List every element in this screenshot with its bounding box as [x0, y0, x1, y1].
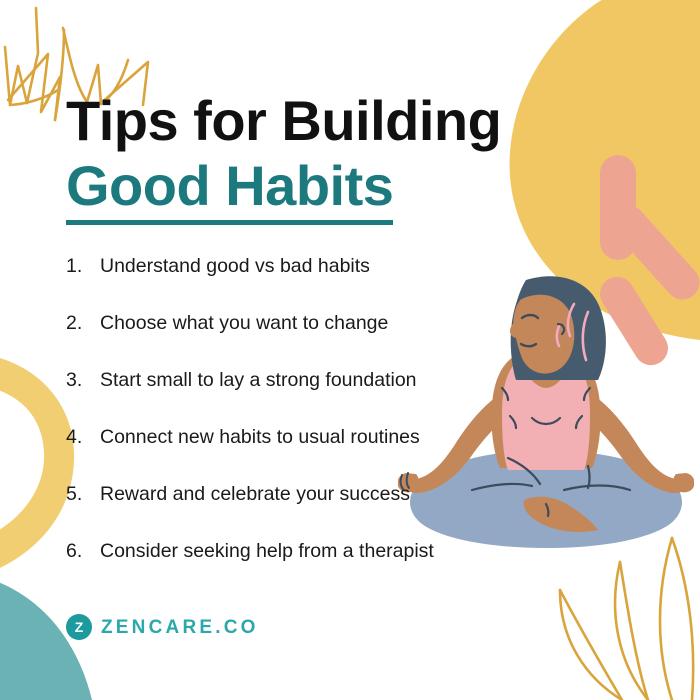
tips-list: 1.Understand good vs bad habits2.Choose …: [66, 252, 606, 594]
list-item: 5.Reward and celebrate your success: [66, 480, 606, 537]
list-item-text: Choose what you want to change: [100, 309, 388, 337]
list-item-number: 4.: [66, 423, 96, 451]
zencare-logo[interactable]: Z ZENCARE.CO: [66, 614, 259, 640]
list-item: 2.Choose what you want to change: [66, 309, 606, 366]
list-item-text: Reward and celebrate your success: [100, 480, 410, 508]
content-layer: Tips for Building Good Habits 1.Understa…: [0, 0, 700, 700]
list-item: 6.Consider seeking help from a therapist: [66, 537, 606, 594]
list-item: 4.Connect new habits to usual routines: [66, 423, 606, 480]
list-item-number: 6.: [66, 537, 96, 565]
zencare-badge-icon: Z: [66, 614, 92, 640]
page-title: Tips for Building Good Habits: [66, 92, 501, 225]
list-item-number: 5.: [66, 480, 96, 508]
list-item-number: 3.: [66, 366, 96, 394]
list-item-text: Connect new habits to usual routines: [100, 423, 420, 451]
list-item-number: 2.: [66, 309, 96, 337]
list-item: 1.Understand good vs bad habits: [66, 252, 606, 309]
list-item-text: Understand good vs bad habits: [100, 252, 370, 280]
list-item-number: 1.: [66, 252, 96, 280]
zencare-wordmark: ZENCARE.CO: [101, 618, 259, 637]
list-item-text: Consider seeking help from a therapist: [100, 537, 434, 565]
title-line-2-underlined: Good Habits: [66, 157, 393, 225]
poster-canvas: Tips for Building Good Habits 1.Understa…: [0, 0, 700, 700]
list-item: 3.Start small to lay a strong foundation: [66, 366, 606, 423]
list-item-text: Start small to lay a strong foundation: [100, 366, 417, 394]
title-line-1: Tips for Building: [66, 92, 501, 149]
